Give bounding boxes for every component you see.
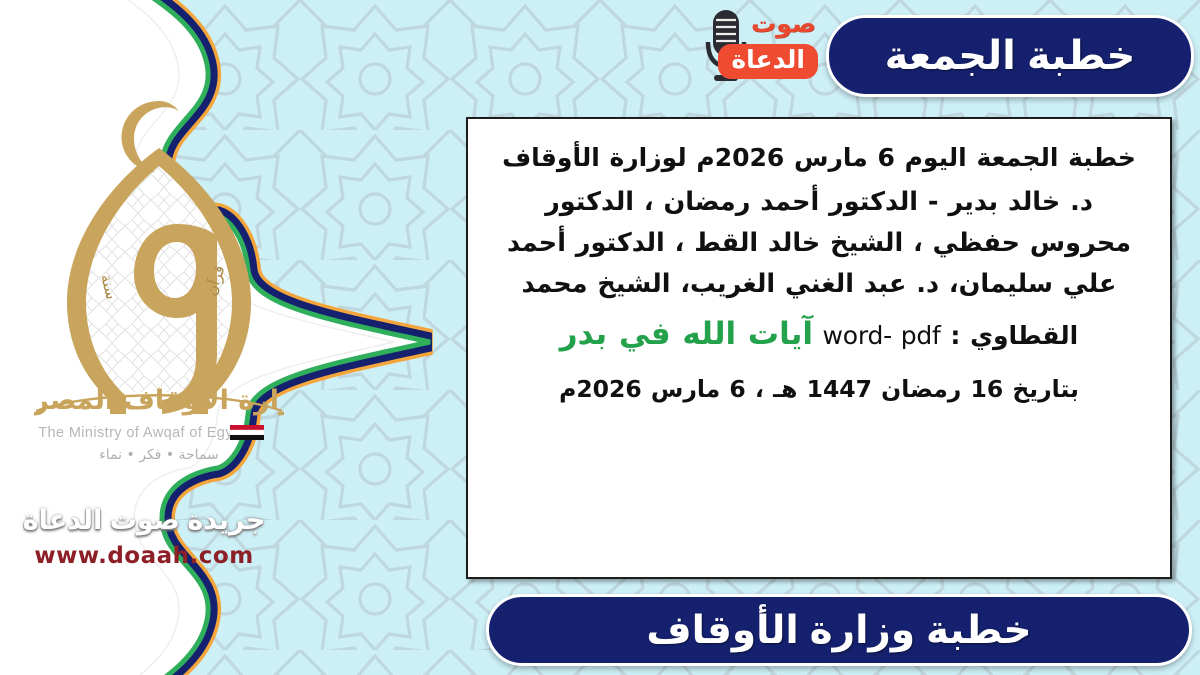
brand-word-aldoaa: الدعاة xyxy=(731,48,805,73)
sermon-line-authors-2: محروس حفظي ، الشيخ خالد القط ، الدكتور أ… xyxy=(484,224,1154,263)
poster-canvas: قرآن سنة وزارة الأوقاف المصرية The Minis… xyxy=(0,0,1200,675)
sermon-line-title: خطبة الجمعة اليوم 6 مارس 2026م لوزارة ال… xyxy=(484,139,1154,177)
watermark-website-url[interactable]: www.doaah.com xyxy=(14,543,274,569)
sermon-file-formats[interactable]: word- pdf xyxy=(823,321,941,350)
egypt-flag-icon xyxy=(230,425,264,440)
sermon-author-last-and-colon: القطاوي : xyxy=(950,321,1078,350)
logo-ministry-name-ar: وزارة الأوقاف المصرية xyxy=(34,383,284,416)
logo-values: سماحة • فكر • نماء xyxy=(99,447,219,463)
badge-friday-sermon[interactable]: خطبة الجمعة xyxy=(826,15,1194,97)
sawt-aldoaa-brand-logo[interactable]: صوت الدعاة xyxy=(700,4,820,102)
ministry-of-awqaf-logo: قرآن سنة وزارة الأوقاف المصرية The Minis… xyxy=(34,96,284,471)
watermark: جريدة صوت الدعاة www.doaah.com xyxy=(14,506,274,569)
logo-ministry-name-en: The Ministry of Awqaf of Egypt xyxy=(38,425,246,441)
brand-word-sawt: صوت xyxy=(751,12,816,37)
sermon-line-authors-1: د. خالد بدير - الدكتور أحمد رمضان ، الدك… xyxy=(484,183,1154,222)
watermark-newspaper-name: جريدة صوت الدعاة xyxy=(14,506,274,536)
brand-pill: الدعاة xyxy=(718,44,818,79)
sermon-line-formats-and-topic: القطاوي : word- pdf آيات الله في بدر xyxy=(484,311,1154,358)
badge-ministry-sermon[interactable]: خطبة وزارة الأوقاف xyxy=(486,594,1192,666)
sermon-line-date: بتاريخ 16 رمضان 1447 هـ ، 6 مارس 2026م xyxy=(484,372,1154,408)
sermon-line-authors-3: علي سليمان، د. عبد الغني الغريب، الشيخ م… xyxy=(484,265,1154,304)
sermon-info-box: خطبة الجمعة اليوم 6 مارس 2026م لوزارة ال… xyxy=(466,117,1172,579)
sermon-topic-title: آيات الله في بدر xyxy=(560,316,813,352)
